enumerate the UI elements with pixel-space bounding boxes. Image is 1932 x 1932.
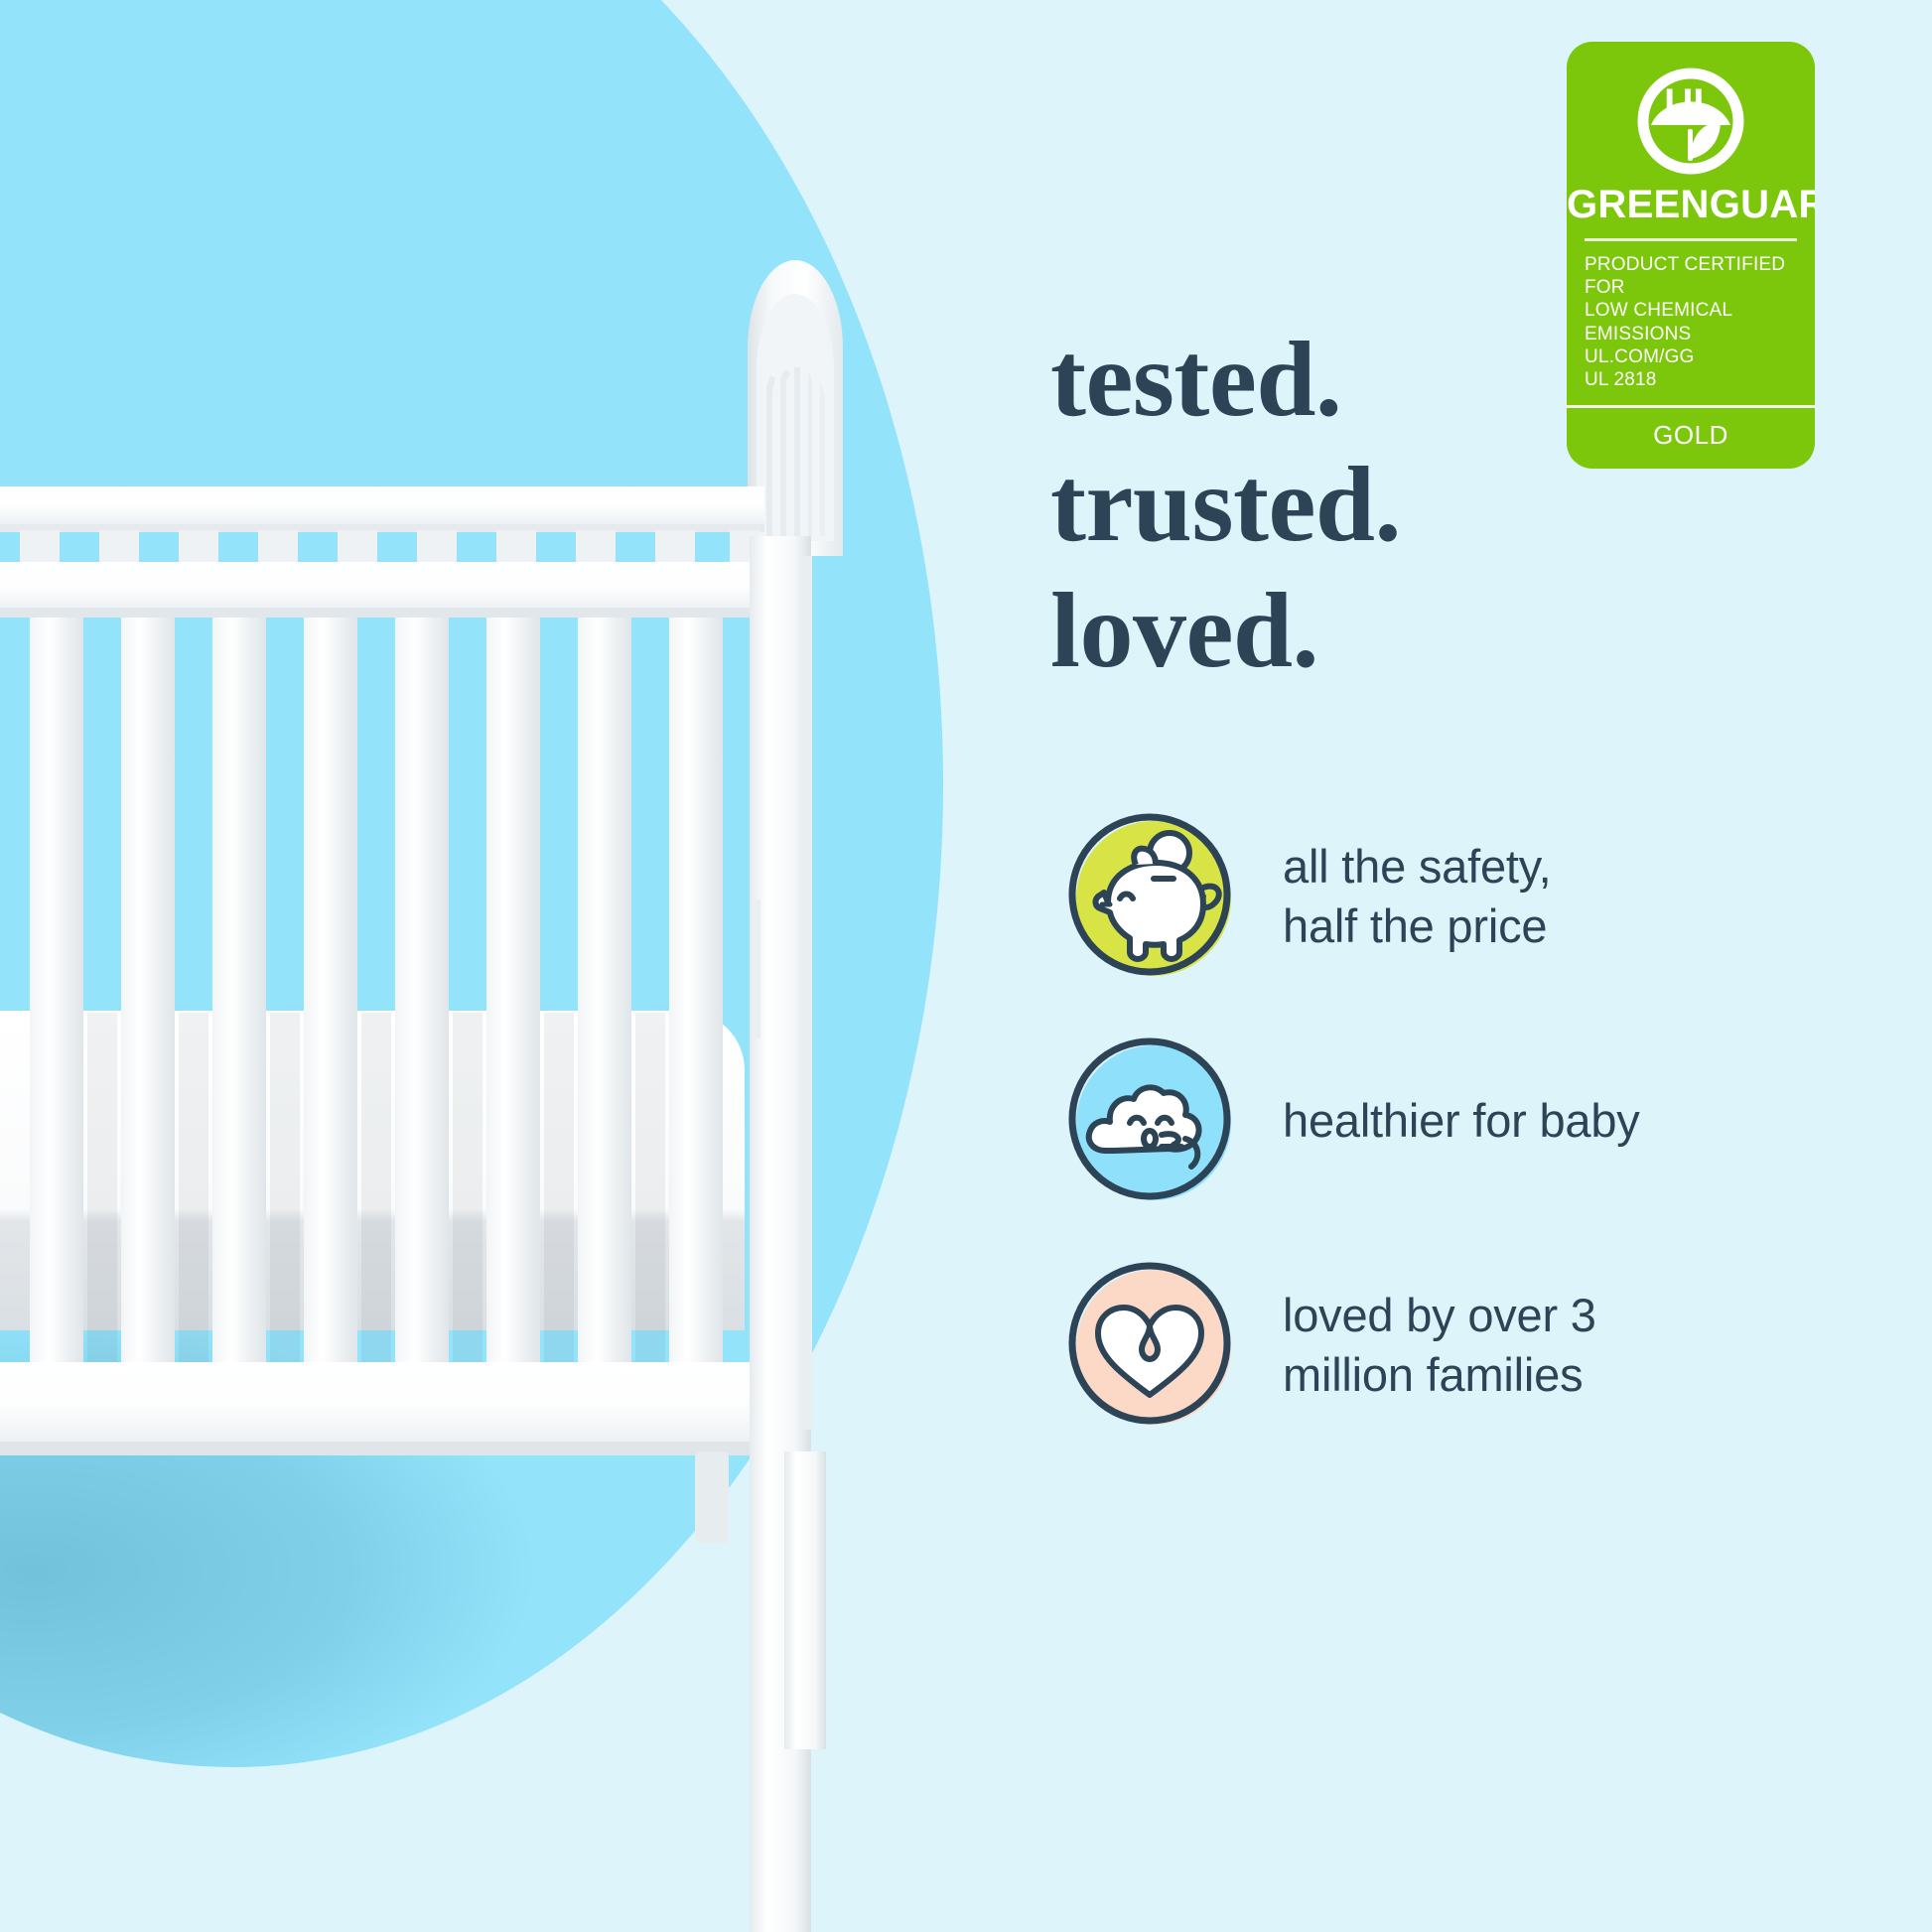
- headline-line-1: tested.: [1050, 318, 1401, 443]
- feature-list: all the safety, half the price: [1062, 784, 1916, 1457]
- feature-label-line: million families: [1283, 1345, 1596, 1405]
- greenguard-badge: UL GREENGUARD PRODUCT CERTIFIED FOR LOW …: [1567, 42, 1815, 469]
- headline-line-3: loved.: [1050, 569, 1401, 694]
- crib-far-slats: [20, 530, 759, 566]
- badge-title: GREENGUARD: [1567, 185, 1815, 238]
- badge-fine-line: UL 2818: [1585, 368, 1797, 391]
- badge-level: GOLD: [1567, 408, 1815, 469]
- badge-fine-line: UL.COM/GG: [1585, 345, 1797, 368]
- headline-line-2: trusted.: [1050, 443, 1401, 568]
- piggy-bank-icon: [1062, 807, 1241, 986]
- feature-label: healthier for baby: [1283, 1091, 1640, 1151]
- crib-front-leg: [784, 1451, 826, 1749]
- feature-label: loved by over 3 million families: [1283, 1286, 1596, 1405]
- feature-label-line: all the safety,: [1283, 837, 1551, 897]
- page-title: tested. trusted. loved.: [1050, 318, 1401, 694]
- list-item: healthier for baby: [1062, 1009, 1916, 1233]
- crib-back-rail: [0, 486, 764, 530]
- crib-product-image: [0, 0, 874, 1932]
- crib-rear-leg: [695, 1451, 729, 1543]
- feature-label-line: loved by over 3: [1283, 1286, 1596, 1345]
- feature-label: all the safety, half the price: [1283, 837, 1551, 956]
- badge-fine-line: PRODUCT CERTIFIED FOR: [1585, 253, 1797, 299]
- ul-leaf-icon: UL: [1637, 68, 1744, 175]
- heart-icon: [1062, 1256, 1241, 1435]
- badge-fine-line: LOW CHEMICAL EMISSIONS: [1585, 299, 1797, 345]
- cloud-blowing-icon: [1062, 1032, 1241, 1210]
- crib-base-rail: [0, 1362, 794, 1453]
- feature-label-line: healthier for baby: [1283, 1091, 1640, 1151]
- list-item: loved by over 3 million families: [1062, 1233, 1916, 1457]
- poster-canvas: UL GREENGUARD PRODUCT CERTIFIED FOR LOW …: [0, 0, 1932, 1932]
- svg-text:UL: UL: [1664, 81, 1717, 125]
- badge-divider: [1585, 238, 1797, 241]
- feature-label-line: half the price: [1283, 897, 1551, 956]
- list-item: all the safety, half the price: [1062, 784, 1916, 1009]
- badge-fine-print: PRODUCT CERTIFIED FOR LOW CHEMICAL EMISS…: [1567, 253, 1815, 405]
